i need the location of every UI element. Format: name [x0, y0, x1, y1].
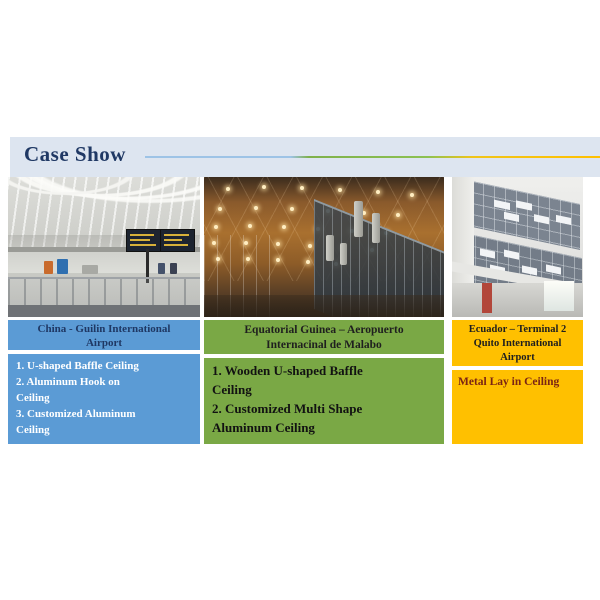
list-item: 3. Customized Aluminum [16, 406, 194, 422]
list-item-cont: Ceiling [16, 390, 194, 406]
list-item-cont: Ceiling [16, 422, 194, 438]
header-divider-line [145, 156, 600, 158]
page-title: Case Show [24, 142, 126, 167]
slide-canvas: Case Show [0, 0, 600, 600]
site-equipment-b [57, 259, 68, 274]
photo-row [0, 177, 600, 317]
list-item-cont: Ceiling [212, 380, 438, 399]
caption-line-3: Airport [452, 351, 583, 365]
site-equipment-c [82, 265, 98, 274]
duct-d [340, 243, 347, 265]
site-equipment-a [44, 261, 53, 274]
scissor-lift [482, 283, 492, 313]
list-item-cont: Aluminum Ceiling [212, 418, 438, 437]
case-caption-guilin: China - Guilin International Airport [8, 320, 200, 350]
duct-a [354, 201, 363, 237]
duct-b [372, 213, 380, 243]
case-items-malabo: 1. Wooden U-shaped Baffle Ceiling 2. Cus… [204, 358, 444, 444]
caption-line-1: Ecuador – Terminal 2 [452, 323, 583, 337]
case-caption-quito: Ecuador – Terminal 2 Quito International… [452, 320, 583, 366]
case-photo-quito [452, 177, 583, 317]
caption-line-1: China - Guilin International [8, 322, 200, 336]
case-items-guilin: 1. U-shaped Baffle Ceiling 2. Aluminum H… [8, 354, 200, 444]
caption-line-2: Airport [8, 336, 200, 350]
section-header: Case Show [10, 137, 600, 177]
person-b [170, 263, 177, 274]
list-item: 1. U-shaped Baffle Ceiling [16, 358, 194, 374]
foreground-strip [8, 305, 200, 317]
list-item: 1. Wooden U-shaped Baffle [212, 361, 438, 380]
case-photo-guilin [8, 177, 200, 317]
case-items-quito: Metal Lay in Ceiling [452, 370, 583, 444]
caption-line-2: Quito International [452, 337, 583, 351]
list-item: 2. Aluminum Hook on [16, 374, 194, 390]
flight-display-left [126, 229, 161, 252]
window-light [544, 281, 574, 311]
list-item: 2. Customized Multi Shape [212, 399, 438, 418]
duct-c [326, 235, 334, 261]
case-photo-malabo [204, 177, 444, 317]
case-caption-malabo: Equatorial Guinea – Aeropuerto Internaci… [204, 320, 444, 354]
construction-floor [204, 295, 444, 317]
caption-line-1: Equatorial Guinea – Aeropuerto [204, 323, 444, 338]
list-item: Metal Lay in Ceiling [458, 374, 579, 390]
person-a [158, 263, 165, 274]
caption-line-2: Internacinal de Malabo [204, 338, 444, 353]
flight-display-right [160, 229, 195, 252]
